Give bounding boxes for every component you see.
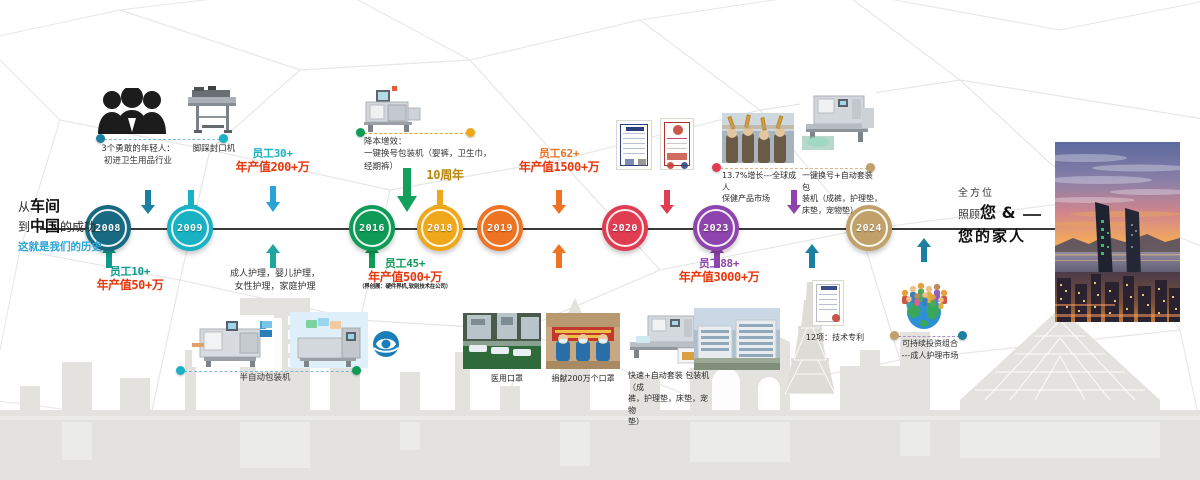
kpi-2016-employees: 员工45+ bbox=[340, 258, 470, 271]
certificate-text-line bbox=[623, 143, 645, 144]
certificate-qr-block bbox=[638, 159, 646, 166]
kpi-2023-output: 年产值3000+万 bbox=[655, 271, 783, 285]
connector-portfolio bbox=[898, 336, 960, 337]
certificate-text-line bbox=[667, 148, 687, 149]
note-care-lines-line2: 女性护理，家庭护理 bbox=[205, 281, 345, 294]
certificate-iso bbox=[616, 120, 652, 170]
note-portfolio: 可持续投资组合 ---成人护理市场 bbox=[888, 338, 972, 361]
note-founders-line2: 初进卫生用品行业 bbox=[88, 155, 188, 167]
arrow-down-2019 bbox=[551, 190, 567, 214]
headline-left-line1-strong: 车间 bbox=[30, 197, 60, 215]
arrow-down-2009-kpi bbox=[265, 186, 281, 212]
node-year-label: 2020 bbox=[612, 223, 638, 234]
kpi-2023: 员工88+ 年产值3000+万 bbox=[655, 258, 783, 284]
timeline-node-2019[interactable]: 2019 bbox=[477, 205, 523, 251]
headline-left-tagline: 这就是我们的历史 bbox=[18, 240, 102, 254]
certificate-national bbox=[660, 118, 694, 170]
arrow-up-patent bbox=[804, 244, 820, 268]
onekey-changeover-machine-icon bbox=[358, 84, 424, 132]
note-care-lines-line1: 成人护理，婴儿护理， bbox=[205, 268, 345, 281]
note-costdown-line2: 一键换号包装机（婴裤，卫生巾， bbox=[364, 148, 494, 160]
node-year-label: 2023 bbox=[703, 223, 729, 234]
company-logo-icon bbox=[372, 330, 400, 358]
photo-mask-donation bbox=[546, 313, 620, 369]
note-fastauto-line3: 垫） bbox=[628, 416, 714, 428]
certificate-text-line bbox=[623, 153, 645, 154]
arrow-up-careline bbox=[265, 244, 281, 268]
timeline-node-2018[interactable]: 2018 bbox=[417, 205, 463, 251]
note-semiauto-label: 半自动包装机 bbox=[200, 372, 330, 384]
headline-left-line2-strong: 中国 bbox=[30, 217, 60, 235]
headline-right-dash bbox=[1023, 214, 1041, 216]
note-onekey-line2: 装机（成裤，护理垫， bbox=[802, 193, 882, 205]
headline-left-line1-prefix: 从 bbox=[18, 200, 30, 214]
certificate-text-line bbox=[667, 138, 687, 139]
note-sealer: 脚踩封口机 bbox=[182, 143, 246, 155]
connector-dot-semiauto-left bbox=[176, 366, 185, 375]
certificate-red-seal bbox=[832, 314, 840, 322]
certificate-red-band bbox=[667, 153, 687, 160]
note-onekey-line1: 一键换号+自动套装 包 bbox=[802, 170, 882, 193]
foot-sealer-machine-icon bbox=[182, 86, 242, 136]
timeline-infographic: 从车间 到中国的成功 这就是我们的历史 全方位 照顾您 & 您的家人 2008 … bbox=[0, 0, 1200, 480]
timeline-node-2009[interactable]: 2009 bbox=[167, 205, 213, 251]
arrow-up-2019 bbox=[551, 244, 567, 268]
note-costdown-line3: 经期裤） bbox=[364, 161, 494, 173]
note-onekey-line3: 床垫，宠物垫） bbox=[802, 205, 882, 217]
kpi-2009-output: 年产值200+万 bbox=[215, 161, 330, 175]
kpi-2008-output: 年产值50+万 bbox=[75, 279, 185, 293]
node-year-label: 2009 bbox=[177, 223, 203, 234]
connector-costdown bbox=[364, 133, 468, 134]
certificate-patent bbox=[812, 280, 844, 326]
timeline-node-2023[interactable]: 2023 bbox=[693, 205, 739, 251]
headline-right-line3: 您的家人 bbox=[958, 225, 1041, 248]
certificate-stamp bbox=[667, 162, 674, 169]
certificate-text-line bbox=[623, 148, 645, 149]
connector-dot-growth-left bbox=[712, 163, 721, 172]
note-donation: 捐献200万个口罩 bbox=[543, 373, 623, 385]
photo-city-skyline-sunset bbox=[1055, 142, 1180, 322]
note-sealer-label: 脚踩封口机 bbox=[182, 143, 246, 155]
note-onekey: 一键换号+自动套装 包 装机（成裤，护理垫， 床垫，宠物垫） bbox=[802, 170, 882, 216]
note-mask-label: 医用口罩 bbox=[472, 373, 542, 385]
certificate-logo-block bbox=[625, 159, 634, 166]
note-care-lines: 成人护理，婴儿护理， 女性护理，家庭护理 bbox=[205, 268, 345, 294]
headline-left-line2-prefix: 到 bbox=[18, 220, 30, 234]
photo-factory-building bbox=[694, 308, 780, 370]
kpi-2016: 员工45+ 年产值500+万 （界创展：硬件界机,软则技术在公司） bbox=[340, 258, 470, 291]
node-year-label: 2018 bbox=[427, 223, 453, 234]
certificate-text-line bbox=[819, 294, 837, 295]
certificate-emblem bbox=[673, 125, 683, 135]
certificate-stamp-2 bbox=[681, 162, 688, 169]
headline-right-line2: 照顾您 & bbox=[958, 201, 1041, 225]
certificate-header-bar bbox=[626, 127, 644, 131]
connector-founders-sealer bbox=[104, 139, 220, 140]
globe-people-icon bbox=[896, 278, 952, 330]
note-semiauto: 半自动包装机 bbox=[200, 372, 330, 384]
note-donation-label: 捐献200万个口罩 bbox=[543, 373, 623, 385]
photo-global-market-crowd bbox=[722, 113, 794, 163]
arrow-down-2020 bbox=[659, 190, 675, 214]
certificate-text-line bbox=[819, 299, 837, 300]
headline-right-line1: 全方位 bbox=[958, 186, 1041, 201]
timeline-axis bbox=[108, 228, 968, 230]
connector-dot-left-blue bbox=[96, 134, 105, 143]
note-growth-line2: 保健产品市场 bbox=[722, 193, 804, 205]
kpi-2019-output: 年产值1500+万 bbox=[498, 161, 620, 175]
arrow-down-founders bbox=[140, 190, 156, 214]
semi-auto-machine-icon-2 bbox=[290, 312, 368, 368]
note-portfolio-line2: ---成人护理市场 bbox=[888, 350, 972, 362]
timeline-node-2016[interactable]: 2016 bbox=[349, 205, 395, 251]
kpi-2019: 员工62+ 年产值1500+万 bbox=[498, 148, 620, 174]
certificate-text-line bbox=[623, 133, 645, 134]
note-mask: 医用口罩 bbox=[472, 373, 542, 385]
headline-left-line2: 到中国的成功 bbox=[18, 216, 102, 236]
note-fastauto-line2: 裤，护理垫，床垫，宠物 bbox=[628, 393, 714, 416]
photo-mask-production-line bbox=[463, 313, 541, 369]
note-growth-line1: 13.7%增长---全球成人 bbox=[722, 170, 804, 193]
kpi-2008: 员工10+ 年产值50+万 bbox=[75, 266, 185, 292]
note-portfolio-line1: 可持续投资组合 bbox=[888, 338, 972, 350]
kpi-2016-subnote: （界创展：硬件界机,软则技术在公司） bbox=[340, 284, 470, 290]
timeline-node-2020[interactable]: 2020 bbox=[602, 205, 648, 251]
note-fastauto: 快速+自动套装 包装机（成 裤，护理垫，床垫，宠物 垫） bbox=[628, 370, 714, 428]
founders-group-icon bbox=[98, 88, 166, 134]
certificate-header-bar bbox=[821, 286, 837, 290]
headline-left-line2-suffix: 的成功 bbox=[60, 220, 96, 234]
certificate-text-line bbox=[819, 309, 837, 310]
headline-right: 全方位 照顾您 & 您的家人 bbox=[958, 186, 1041, 248]
connector-dot-semiauto-right bbox=[352, 366, 361, 375]
note-costdown: 降本增效： 一键换号包装机（婴裤，卫生巾， 经期裤） bbox=[364, 136, 494, 173]
node-year-label: 2024 bbox=[856, 223, 882, 234]
kpi-2016-output: 年产值500+万 bbox=[340, 271, 470, 285]
headline-left-line1: 从车间 bbox=[18, 196, 102, 216]
certificate-text-line bbox=[623, 138, 645, 139]
note-founders: 3个勇敢的年轻人： 初进卫生用品行业 bbox=[88, 143, 188, 168]
note-founders-line1: 3个勇敢的年轻人： bbox=[88, 143, 188, 155]
certificate-text-line bbox=[667, 143, 687, 144]
note-fastauto-line1: 快速+自动套装 包装机（成 bbox=[628, 370, 714, 393]
arrow-up-portfolio bbox=[916, 238, 932, 262]
certificate-text-line bbox=[819, 304, 837, 305]
connector-dot-right-cyan bbox=[219, 134, 228, 143]
onekey-auto-bagging-machine-icon bbox=[800, 92, 876, 154]
semi-auto-machine-icon-1 bbox=[192, 315, 274, 367]
note-patent-label: 12项：技术专利 bbox=[800, 332, 870, 344]
headline-right-line2-strong: 您 & bbox=[980, 203, 1016, 222]
kpi-2008-employees: 员工10+ bbox=[75, 266, 185, 279]
headline-left: 从车间 到中国的成功 这就是我们的历史 bbox=[18, 196, 102, 254]
note-costdown-line1: 降本增效： bbox=[364, 136, 494, 148]
note-patent: 12项：技术专利 bbox=[800, 332, 870, 344]
headline-right-line2-prefix: 照顾 bbox=[958, 208, 980, 221]
kpi-2019-employees: 员工62+ bbox=[498, 148, 620, 161]
node-year-label: 2019 bbox=[487, 223, 513, 234]
connector-growth bbox=[720, 168, 868, 169]
kpi-2023-employees: 员工88+ bbox=[655, 258, 783, 271]
note-growth: 13.7%增长---全球成人 保健产品市场 bbox=[722, 170, 804, 205]
node-year-label: 2016 bbox=[359, 223, 385, 234]
